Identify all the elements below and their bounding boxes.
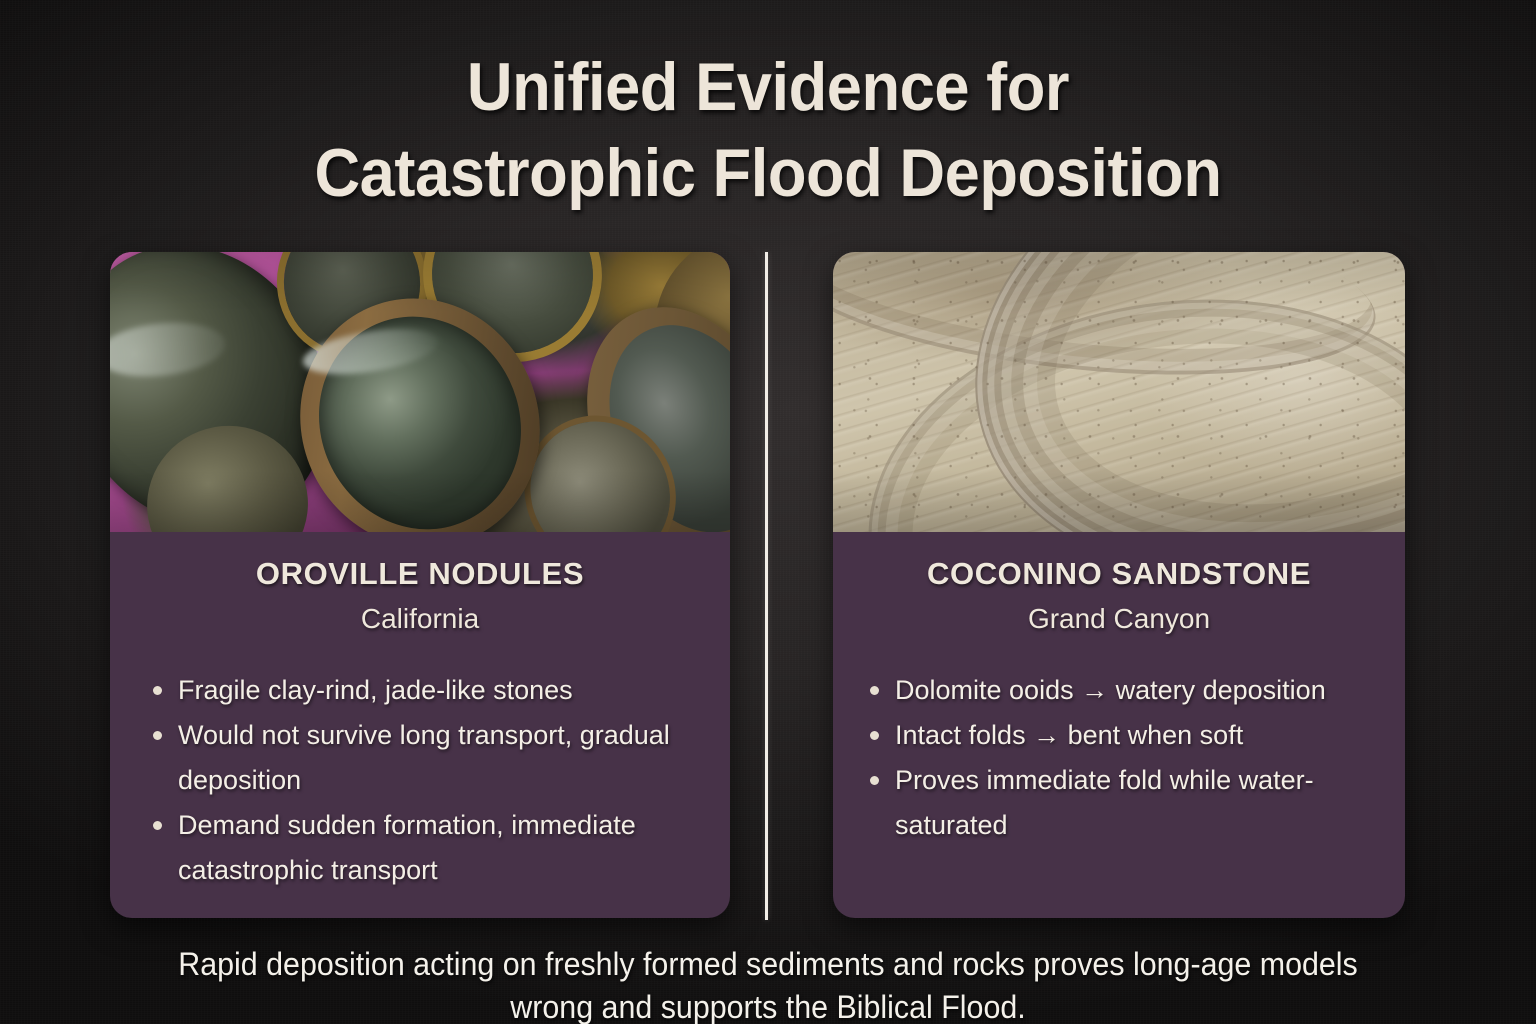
nodules-image-backdrop xyxy=(110,252,730,532)
bullet-text: Dolomite ooids → watery deposition xyxy=(895,675,1326,705)
bullet-list-oroville: Fragile clay-rind, jade-like stones Woul… xyxy=(110,668,730,893)
bullet-dot-icon xyxy=(153,686,162,695)
page-title-line-2: Catastrophic Flood Deposition xyxy=(54,130,1482,216)
bullet-dot-icon xyxy=(153,731,162,740)
page-title-line-1: Unified Evidence for xyxy=(54,44,1482,130)
card-location-oroville: California xyxy=(110,603,730,635)
footer-line-2: wrong and supports the Biblical Flood. xyxy=(38,986,1497,1024)
bullet-dot-icon xyxy=(870,686,879,695)
bullet-text: Demand sudden formation, immediate catas… xyxy=(178,810,636,885)
footer-caption: Rapid deposition acting on freshly forme… xyxy=(38,943,1497,1024)
coconino-sandstone-photo xyxy=(833,252,1405,532)
bullet-dot-icon xyxy=(870,731,879,740)
card-title-coconino: COCONINO SANDSTONE xyxy=(833,556,1405,592)
sandstone-grain-specks xyxy=(833,252,1405,532)
list-item: Would not survive long transport, gradua… xyxy=(150,713,700,803)
bullet-text: Fragile clay-rind, jade-like stones xyxy=(178,675,573,705)
slide-canvas: Unified Evidence for Catastrophic Flood … xyxy=(0,0,1536,1024)
list-item: Dolomite ooids → watery deposition xyxy=(867,668,1381,713)
vertical-divider xyxy=(765,252,768,920)
list-item: Demand sudden formation, immediate catas… xyxy=(150,803,700,893)
oroville-nodules-photo xyxy=(110,252,730,532)
card-body-coconino: COCONINO SANDSTONE Grand Canyon Dolomite… xyxy=(833,532,1405,848)
bullet-dot-icon xyxy=(870,776,879,785)
footer-line-1: Rapid deposition acting on freshly forme… xyxy=(38,943,1497,986)
page-title: Unified Evidence for Catastrophic Flood … xyxy=(54,44,1482,216)
bullet-text: Intact folds → bent when soft xyxy=(895,720,1243,750)
card-body-oroville: OROVILLE NODULES California Fragile clay… xyxy=(110,532,730,893)
bullet-dot-icon xyxy=(153,821,162,830)
list-item: Proves immediate fold while water-satura… xyxy=(867,758,1381,848)
card-location-coconino: Grand Canyon xyxy=(833,603,1405,635)
card-title-oroville: OROVILLE NODULES xyxy=(110,556,730,592)
list-item: Fragile clay-rind, jade-like stones xyxy=(150,668,700,713)
evidence-card-oroville: OROVILLE NODULES California Fragile clay… xyxy=(110,252,730,918)
bullet-text: Proves immediate fold while water-satura… xyxy=(895,765,1314,840)
bullet-list-coconino: Dolomite ooids → watery deposition Intac… xyxy=(833,668,1405,848)
list-item: Intact folds → bent when soft xyxy=(867,713,1381,758)
bullet-text: Would not survive long transport, gradua… xyxy=(178,720,670,795)
sandstone-image-backdrop xyxy=(833,252,1405,532)
evidence-card-coconino: COCONINO SANDSTONE Grand Canyon Dolomite… xyxy=(833,252,1405,918)
